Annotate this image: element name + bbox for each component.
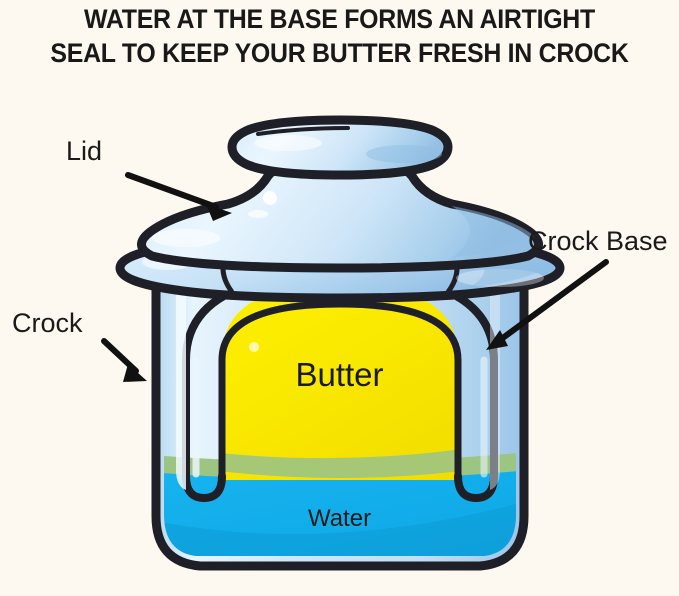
label-water: Water	[0, 505, 679, 533]
label-crock-base: Crock Base	[528, 226, 668, 257]
crock-lid	[141, 120, 538, 268]
diagram-canvas: WATER AT THE BASE FORMS AN AIRTIGHT SEAL…	[0, 0, 679, 596]
label-lid: Lid	[66, 136, 102, 167]
label-crock: Crock	[12, 308, 83, 339]
label-butter: Butter	[0, 356, 679, 394]
